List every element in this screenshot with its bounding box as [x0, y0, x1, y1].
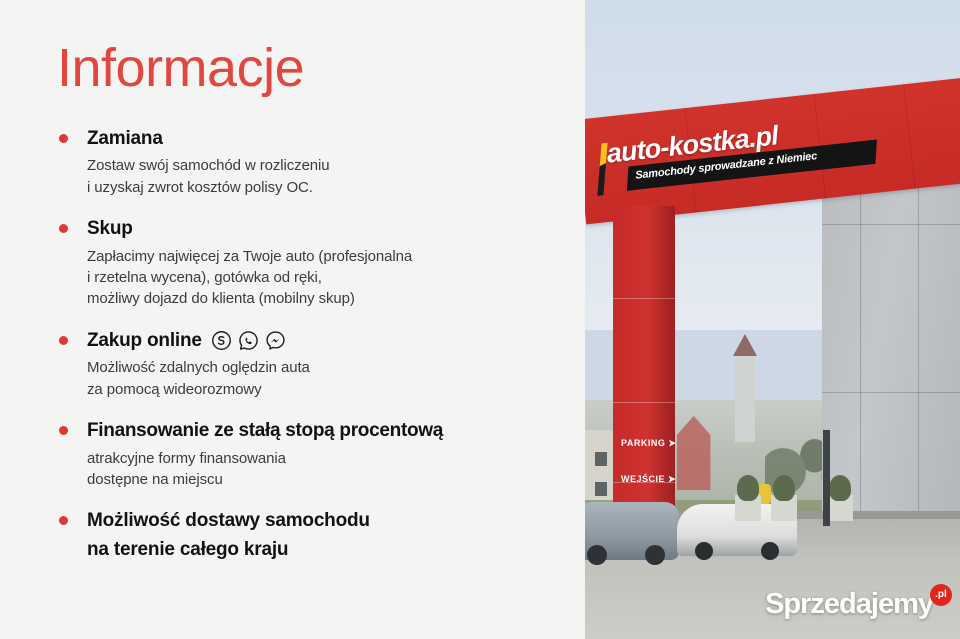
- bullet-item-dostawa: Możliwość dostawy samochodu na terenie c…: [57, 509, 585, 563]
- car-wheel: [587, 545, 607, 565]
- info-panel: Informacje Zamiana Zostaw swój samochód …: [0, 0, 585, 639]
- bullet-heading-row: Finansowanie ze stałą stopą procentową: [87, 419, 585, 444]
- bullet-dot-icon: [59, 336, 68, 345]
- church-tower: [735, 352, 755, 442]
- messenger-icon[interactable]: [265, 330, 286, 351]
- bollard-post: [823, 430, 830, 526]
- page-title: Informacje: [57, 40, 585, 97]
- bullet-heading-row: Możliwość dostawy samochodu: [87, 509, 585, 534]
- planter-box: [735, 495, 761, 521]
- watermark-badge: .pl: [930, 584, 952, 606]
- bullet-item-zamiana: Zamiana Zostaw swój samochód w rozliczen…: [57, 127, 585, 198]
- bullet-body: atrakcyjne formy finansowania dostępne n…: [87, 448, 585, 491]
- pillar-label-parking: PARKING ➤: [621, 438, 676, 449]
- bullet-item-skup: Skup Zapłacimy najwięcej za Twoje auto (…: [57, 217, 585, 310]
- bullet-heading-row: Skup: [87, 217, 585, 242]
- bullet-heading-row: Zakup online: [87, 329, 585, 354]
- slide-root: Informacje Zamiana Zostaw swój samochód …: [0, 0, 960, 639]
- skype-icon[interactable]: [211, 330, 232, 351]
- silver-car: [585, 502, 679, 560]
- shrub: [773, 475, 795, 501]
- pillar-label-wejscie: WEJŚCIE ➤: [621, 474, 676, 485]
- pillar-seam: [613, 298, 675, 299]
- bullet-dot-icon: [59, 426, 68, 435]
- car-wheel: [645, 545, 665, 565]
- panel-seam: [822, 224, 960, 225]
- bullet-body: Zostaw swój samochód w rozliczeniu i uzy…: [87, 155, 585, 198]
- bullet-heading: Zakup online: [87, 329, 202, 354]
- banner-seam: [903, 84, 915, 188]
- planter-box: [827, 495, 853, 521]
- social-icons-group: [211, 330, 286, 351]
- car-wheel: [695, 542, 713, 560]
- bullet-item-zakup-online: Zakup online: [57, 329, 585, 400]
- bullet-heading-row: Zamiana: [87, 127, 585, 152]
- window: [595, 482, 607, 496]
- whatsapp-icon[interactable]: [238, 330, 259, 351]
- bullet-heading: Zamiana: [87, 127, 163, 152]
- watermark-text: Sprzedajemy: [765, 590, 933, 619]
- window: [595, 452, 607, 466]
- shrub: [829, 475, 851, 501]
- bullet-dot-icon: [59, 134, 68, 143]
- pillar-seam: [613, 402, 675, 403]
- car-wheel: [761, 542, 779, 560]
- bullet-subheading: na terenie całego kraju: [87, 536, 585, 564]
- bullet-body: Możliwość zdalnych oględzin auta za pomo…: [87, 357, 585, 400]
- shrub: [737, 475, 759, 501]
- bullet-body: Zapłacimy najwięcej za Twoje auto (profe…: [87, 246, 585, 310]
- planter-box: [771, 495, 797, 521]
- bullet-dot-icon: [59, 516, 68, 525]
- watermark: Sprzedajemy .pl: [765, 590, 952, 619]
- panel-seam: [822, 392, 960, 393]
- church-spire: [733, 334, 757, 356]
- bullet-dot-icon: [59, 224, 68, 233]
- dealership-photo: auto-kostka.pl Samochody sprowadzane z N…: [585, 0, 960, 639]
- bullet-heading: Możliwość dostawy samochodu: [87, 509, 370, 534]
- bullet-heading: Skup: [87, 217, 133, 242]
- bullet-heading: Finansowanie ze stałą stopą procentową: [87, 419, 443, 444]
- bullet-list: Zamiana Zostaw swój samochód w rozliczen…: [57, 127, 585, 564]
- bullet-item-finansowanie: Finansowanie ze stałą stopą procentową a…: [57, 419, 585, 490]
